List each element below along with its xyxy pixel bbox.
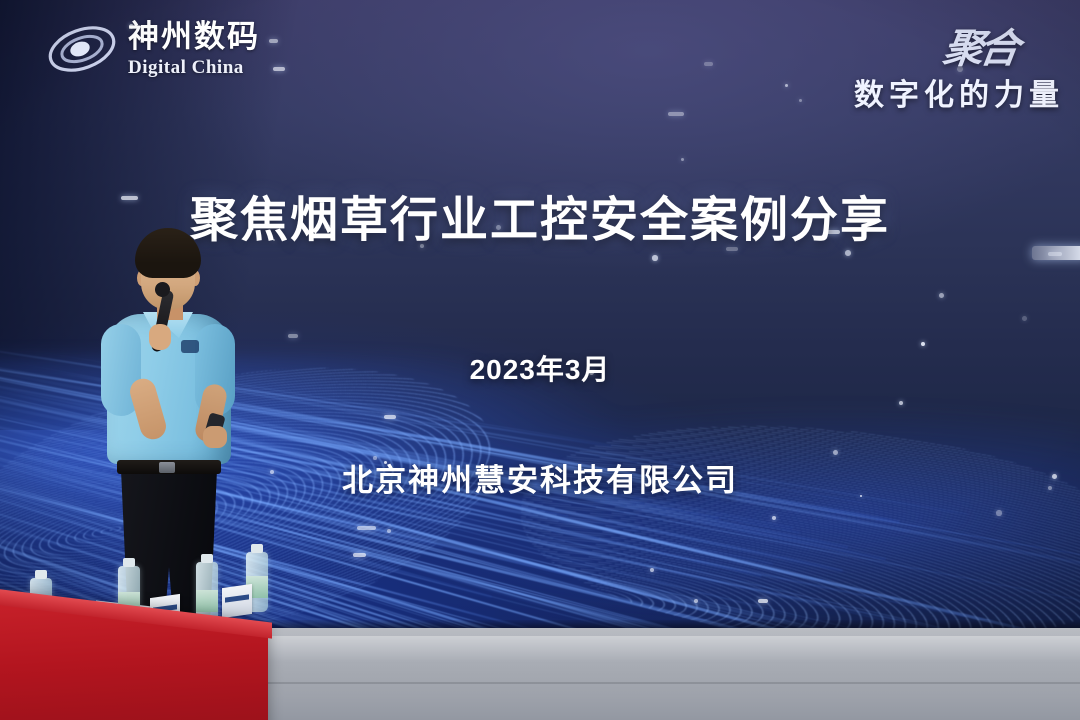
name-card: [222, 584, 252, 618]
speaker-left-hand: [149, 324, 171, 350]
speaker-hair: [135, 228, 201, 278]
speaker-right-hand: [203, 426, 227, 448]
polo-chest-logo: [181, 340, 199, 353]
conference-photo: 神州数码 Digital China 聚合 数字化的力量 聚焦烟草行业工控安全案…: [0, 0, 1080, 720]
belt-buckle: [159, 462, 175, 473]
